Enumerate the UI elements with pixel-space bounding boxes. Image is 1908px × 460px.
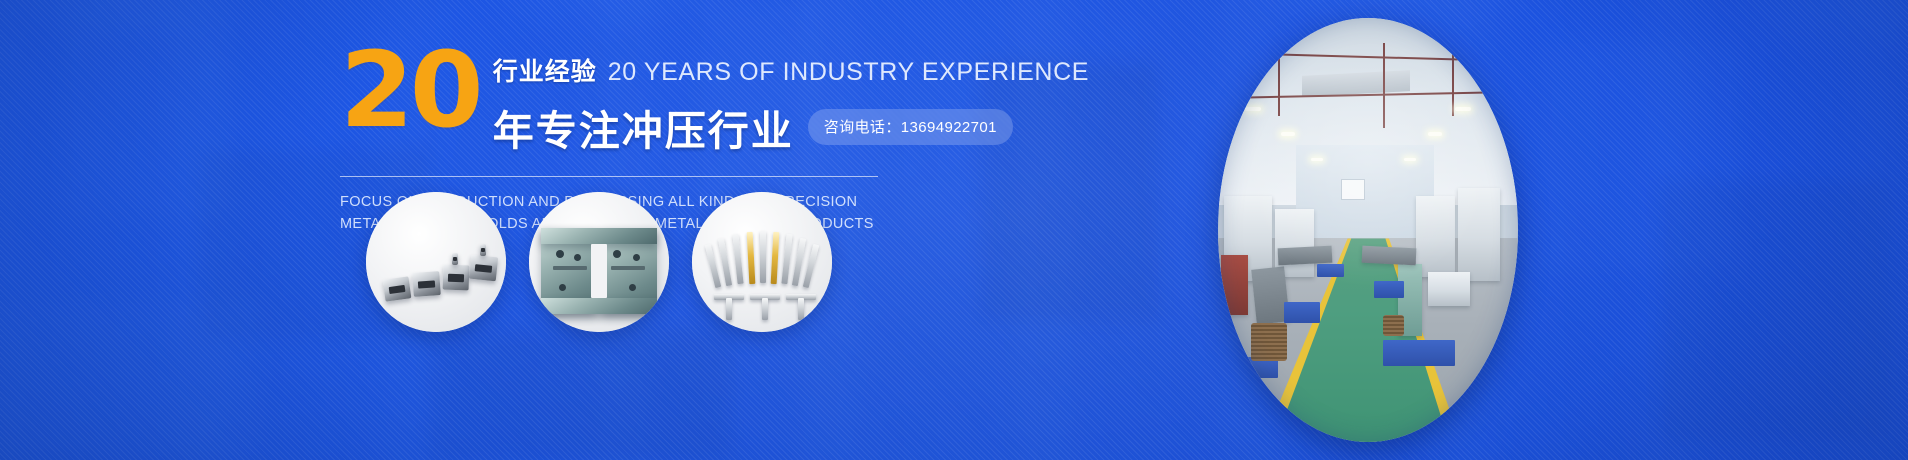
headline-divider [340, 176, 878, 177]
headline-cn-small: 行业经验 [493, 52, 597, 88]
connector-shell-icon [412, 271, 441, 297]
promo-banner: 20 行业经验 20 YEARS OF INDUSTRY EXPERIENCE … [0, 0, 1908, 460]
connector-shell-icon [383, 276, 412, 301]
product-circle-terminal-pins[interactable] [692, 192, 832, 332]
die-slot [611, 266, 645, 270]
headline-en-small: 20 YEARS OF INDUSTRY EXPERIENCE [608, 58, 1089, 87]
headline-text: 行业经验 20 YEARS OF INDUSTRY EXPERIENCE 年专注… [493, 44, 1089, 157]
die-slot [553, 266, 587, 270]
stamping-die-bridge [541, 228, 657, 244]
die-hole [629, 284, 636, 291]
headline-line-2: 年专注冲压行业 咨询电话：13694922701 [493, 97, 1089, 157]
connector-pin-icon [480, 244, 486, 256]
years-number: 20 [340, 46, 479, 135]
product-circle-connectors[interactable] [366, 192, 506, 332]
die-hole [559, 284, 566, 291]
connector-shell-icon [469, 255, 498, 282]
product-circle-mold[interactable] [529, 192, 669, 332]
stamping-die-bridge [541, 298, 657, 314]
product-circles [366, 192, 832, 332]
die-hole [574, 254, 581, 261]
factory-circle-edge [1218, 18, 1518, 442]
headline-cn-big: 年专注冲压行业 [493, 97, 794, 157]
terminal-strip-icon [798, 298, 804, 320]
die-hole [613, 250, 621, 258]
headline-row: 20 行业经验 20 YEARS OF INDUSTRY EXPERIENCE … [340, 44, 900, 157]
connector-shell-icon [443, 265, 470, 291]
die-hole [556, 250, 564, 258]
factory-photo-circle[interactable] [1218, 18, 1518, 442]
connector-pin-icon [452, 253, 458, 265]
terminal-strip-icon [762, 298, 768, 320]
terminal-pin-icon [760, 231, 766, 283]
terminal-strip-icon [726, 298, 732, 320]
headline-line-1: 行业经验 20 YEARS OF INDUSTRY EXPERIENCE [493, 52, 1089, 88]
die-slot [591, 244, 607, 298]
phone-badge[interactable]: 咨询电话：13694922701 [808, 109, 1013, 145]
die-hole [633, 254, 640, 261]
